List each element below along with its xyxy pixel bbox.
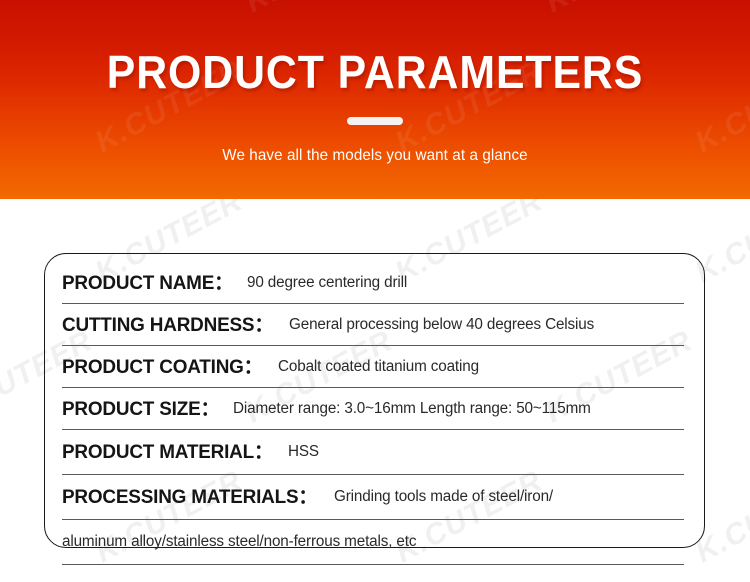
watermark-text: K.CUTEER: [540, 0, 698, 20]
table-row: PRODUCT COATING： Cobalt coated titanium …: [62, 346, 684, 388]
spec-label: PRODUCT COATING：: [62, 355, 262, 379]
spec-label: CUTTING HARDNESS：: [62, 313, 273, 337]
table-row: PRODUCT SIZE： Diameter range: 3.0~16mm L…: [62, 388, 684, 430]
spec-value: Grinding tools made of steel/iron/: [334, 486, 553, 508]
watermark-text: K.CUTEER: [540, 194, 698, 199]
spec-table: PRODUCT NAME： 90 degree centering drill …: [62, 262, 684, 565]
title-divider: [347, 117, 403, 125]
page-title: PRODUCT PARAMETERS: [26, 44, 724, 100]
spec-value: Diameter range: 3.0~16mm Length range: 5…: [233, 398, 591, 420]
spec-label: PROCESSING MATERIALS：: [62, 485, 317, 509]
spec-value-continuation: aluminum alloy/stainless steel/non-ferro…: [62, 531, 416, 553]
spec-value: General processing below 40 degrees Cels…: [289, 314, 594, 336]
table-row: PRODUCT MATERIAL： HSS: [62, 430, 684, 475]
spec-label: PRODUCT NAME：: [62, 271, 233, 295]
table-row: CUTTING HARDNESS： General processing bel…: [62, 304, 684, 346]
spec-label: PRODUCT MATERIAL：: [62, 440, 273, 464]
table-row: PROCESSING MATERIALS： Grinding tools mad…: [62, 475, 684, 520]
spec-value: 90 degree centering drill: [247, 272, 407, 294]
table-row: PRODUCT NAME： 90 degree centering drill: [62, 262, 684, 304]
watermark-text: K.CUTEER: [0, 0, 98, 20]
watermark-text: K.CUTEER: [0, 194, 98, 199]
spec-label: PRODUCT SIZE：: [62, 397, 219, 421]
spec-value: Cobalt coated titanium coating: [278, 356, 479, 378]
watermark-text: K.CUTEER: [240, 0, 398, 20]
watermark-text: K.CUTEER: [240, 194, 398, 199]
spec-value: HSS: [288, 441, 319, 463]
page-subtitle: We have all the models you want at a gla…: [19, 145, 732, 167]
header-banner: K.CUTEERK.CUTEERK.CUTEERK.CUTEERK.CUTEER…: [0, 0, 750, 199]
table-row-continuation: aluminum alloy/stainless steel/non-ferro…: [62, 520, 684, 565]
